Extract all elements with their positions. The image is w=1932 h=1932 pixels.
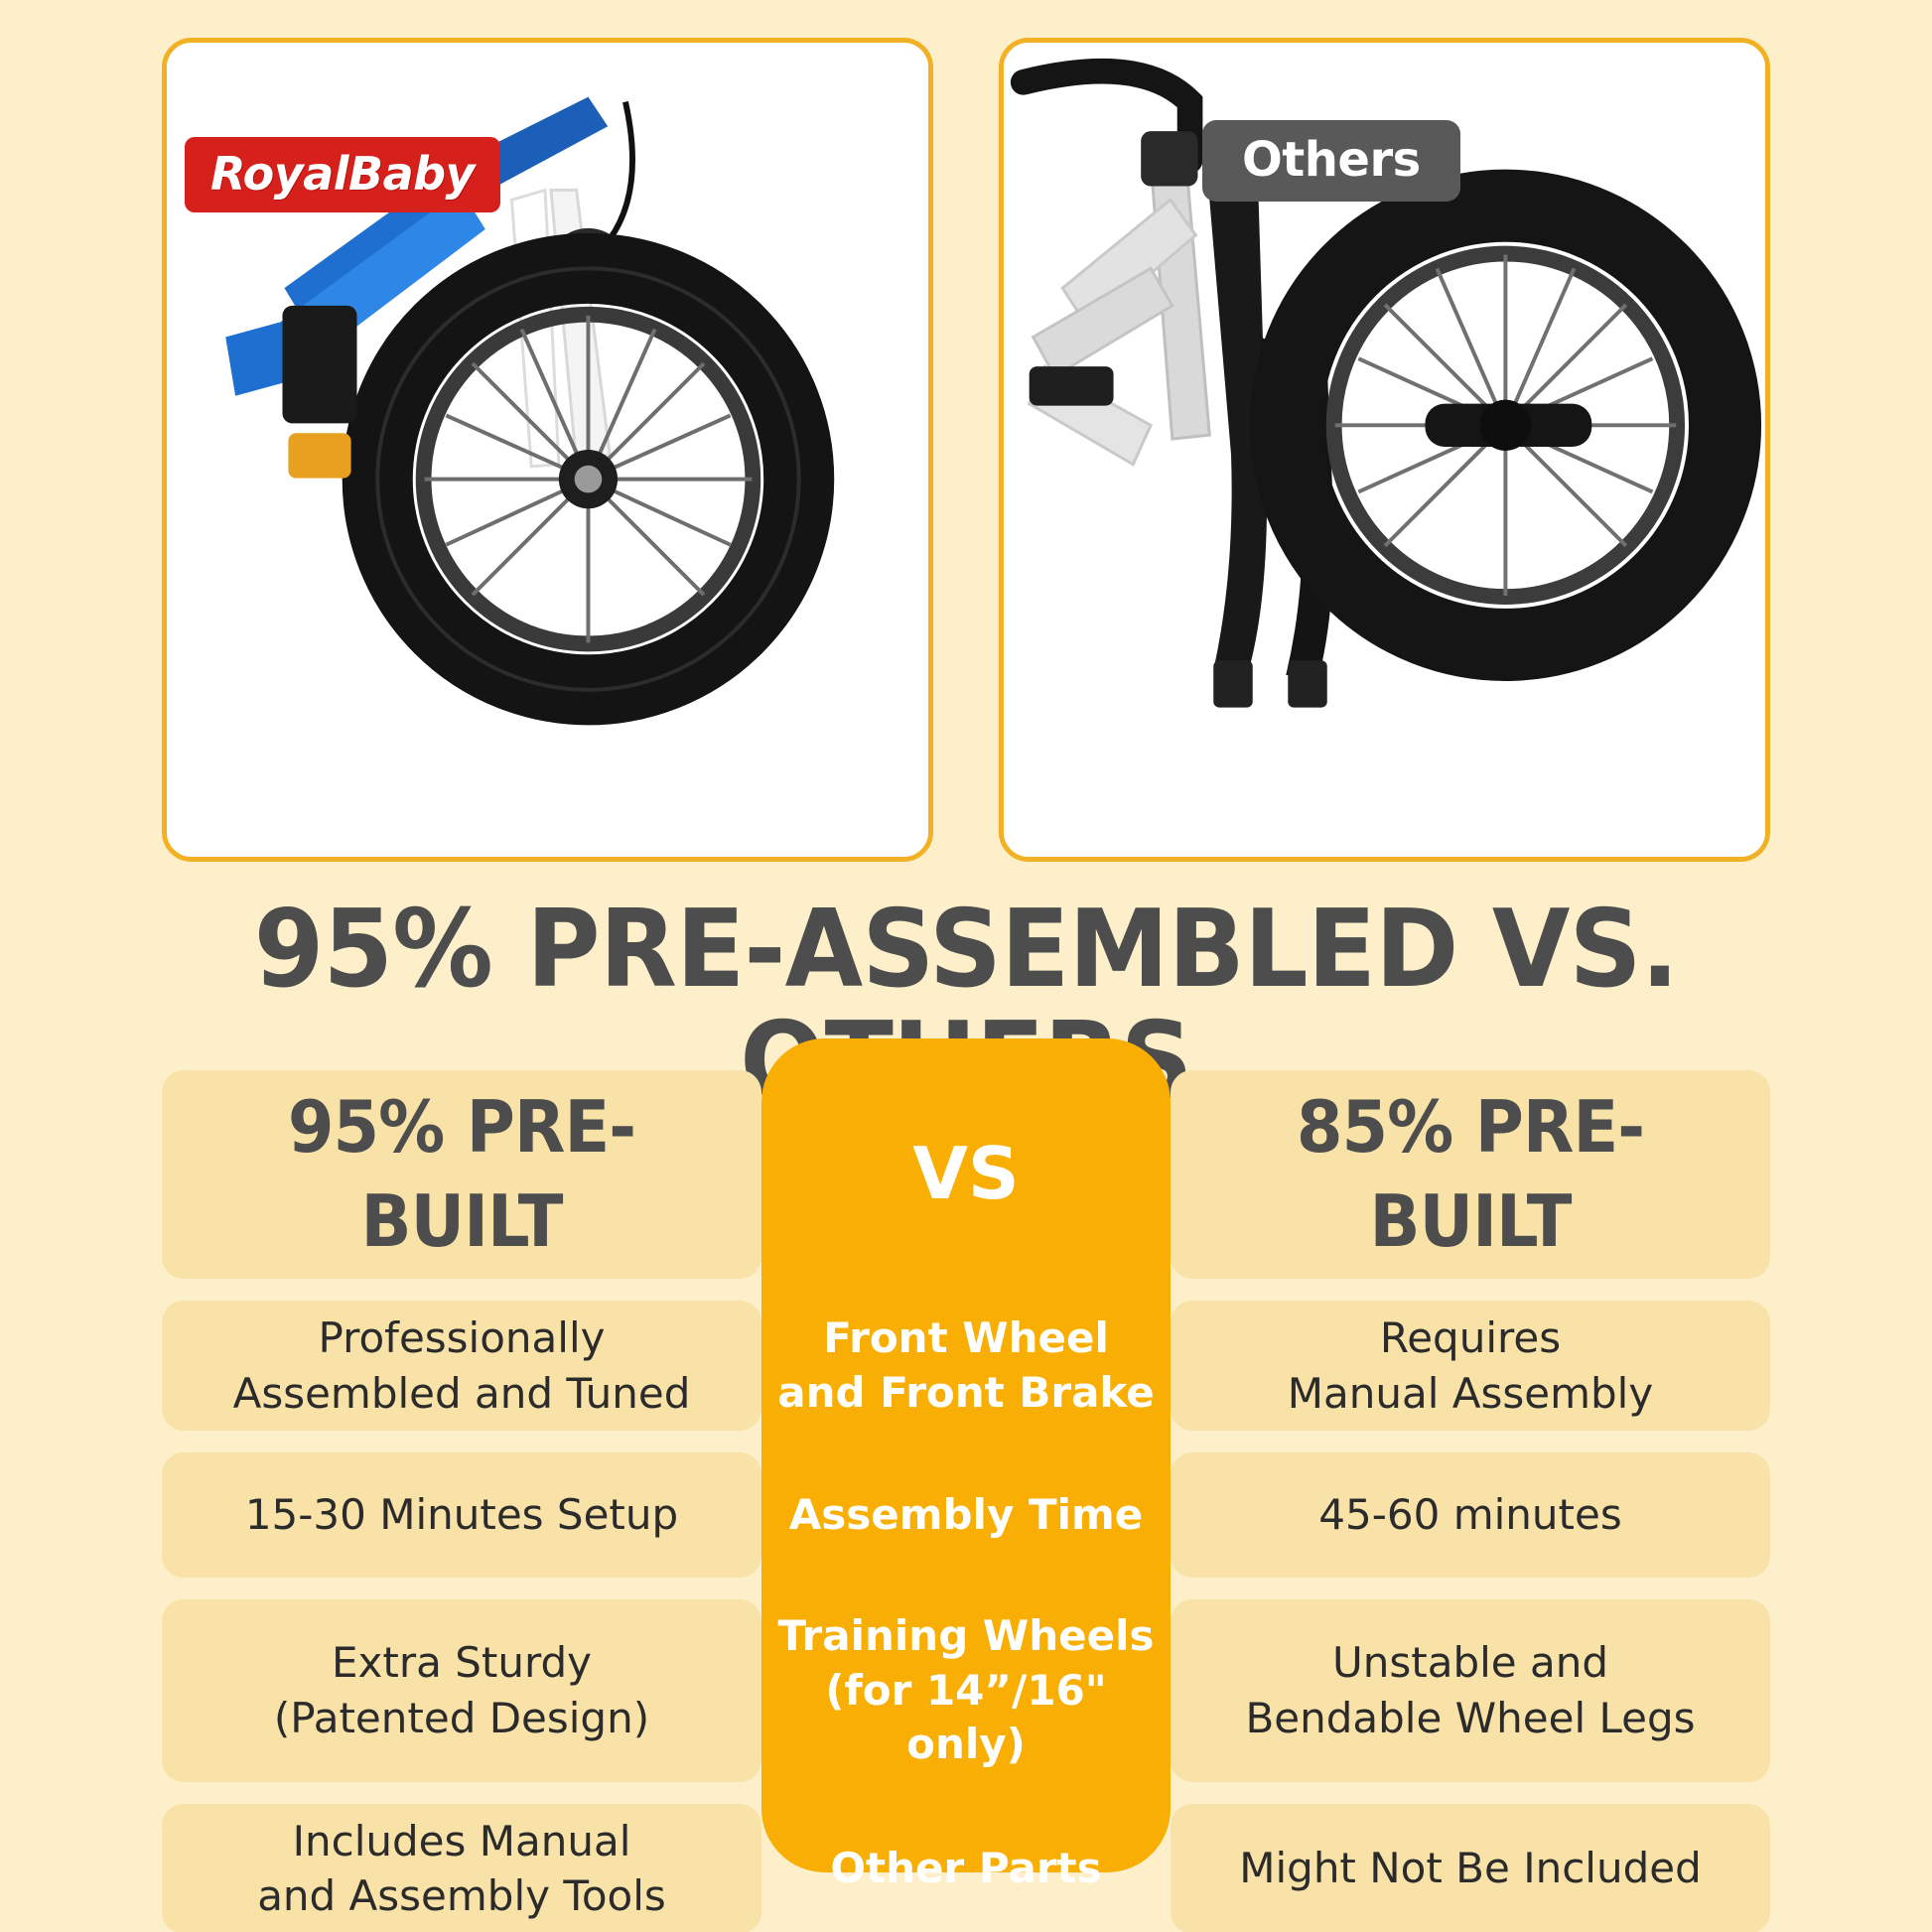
photo-card-royalbaby: RoyalBaby: [162, 38, 933, 862]
infographic-page: RoyalBaby: [0, 0, 1932, 1932]
header-left-label: 95% PRE-BUILT: [208, 1080, 715, 1269]
row-3-feature-label: Training Wheels (for 14”/16" only): [761, 1599, 1171, 1782]
row-3-left-value: Extra Sturdy (Patented Design): [162, 1599, 761, 1782]
table-row: Extra Sturdy (Patented Design) Training …: [162, 1599, 1770, 1782]
row-2-right-value: 45-60 minutes: [1171, 1452, 1770, 1578]
row-3-right-value: Unstable and Bendable Wheel Legs: [1171, 1599, 1770, 1782]
row-2-feature-label: Assembly Time: [761, 1452, 1171, 1578]
header-right-label: 85% PRE-BUILT: [1217, 1080, 1724, 1269]
royalbaby-logo-badge: RoyalBaby: [185, 137, 500, 212]
row-2-left-value: 15-30 Minutes Setup: [162, 1452, 761, 1578]
row-1-right-value: Requires Manual Assembly: [1171, 1301, 1770, 1431]
row-4-left-value: Includes Manual and Assembly Tools: [162, 1804, 761, 1932]
table-row: Professionally Assembled and Tuned Front…: [162, 1301, 1770, 1431]
photo-royalbaby-bike: RoyalBaby: [167, 43, 928, 857]
row-1-left-value: Professionally Assembled and Tuned: [162, 1301, 761, 1431]
comparison-table: 95% PRE-BUILT VS 85% PRE-BUILT Professio…: [162, 1070, 1770, 1932]
row-4-feature-label: Other Parts: [761, 1804, 1171, 1932]
table-row: Includes Manual and Assembly Tools Other…: [162, 1804, 1770, 1932]
header-cell-others: 85% PRE-BUILT: [1171, 1070, 1770, 1279]
others-label-badge: Others: [1202, 120, 1460, 202]
row-1-feature-label: Front Wheel and Front Brake: [761, 1301, 1171, 1431]
photo-comparison-row: RoyalBaby: [162, 38, 1770, 862]
photo-others-bike: Others: [1004, 43, 1765, 857]
table-header-row: 95% PRE-BUILT VS 85% PRE-BUILT: [162, 1070, 1770, 1279]
photo-card-others: Others: [999, 38, 1770, 862]
row-4-right-value: Might Not Be Included: [1171, 1804, 1770, 1932]
header-cell-vs: VS: [761, 1070, 1171, 1279]
header-cell-royalbaby: 95% PRE-BUILT: [162, 1070, 761, 1279]
table-row: 15-30 Minutes Setup Assembly Time 45-60 …: [162, 1452, 1770, 1578]
